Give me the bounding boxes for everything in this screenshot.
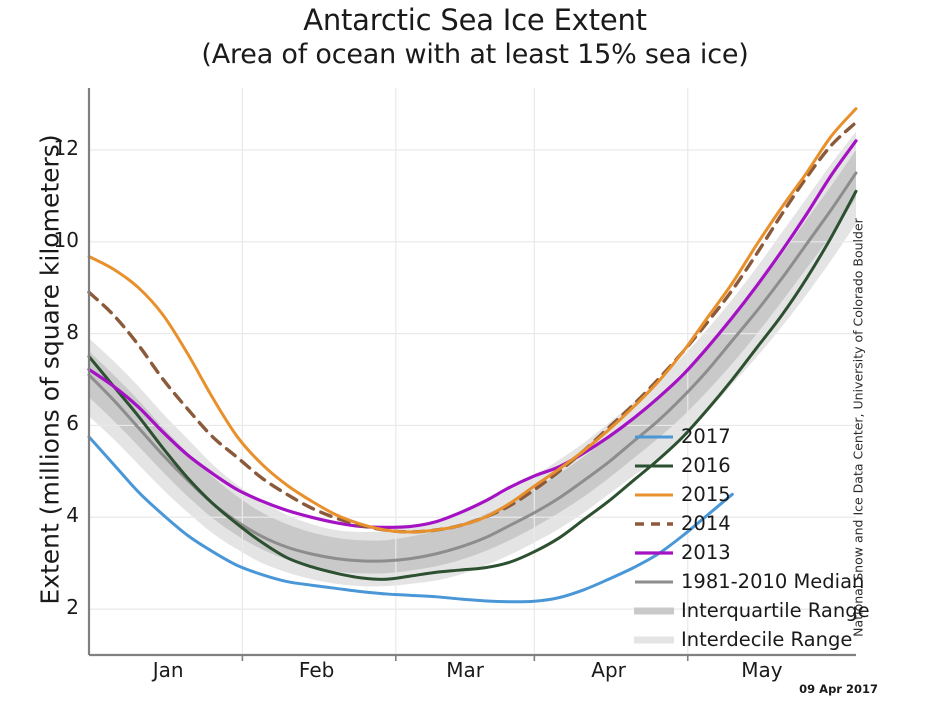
chart-legend: 201720162015201420131981-2010 MedianInte…	[634, 422, 859, 654]
y-axis-label: Extent (millions of square kilometers)	[36, 90, 65, 650]
date-stamp: 09 Apr 2017	[799, 682, 878, 696]
legend-swatch-icon	[634, 629, 674, 651]
x-tick-label: Mar	[405, 658, 525, 682]
legend-item-label: Interquartile Range	[681, 599, 870, 622]
legend-item-label: Interdecile Range	[681, 628, 852, 651]
legend-item-label: 2016	[681, 454, 731, 477]
legend-item-2016[interactable]: 2016	[634, 451, 859, 480]
legend-item-label: 2013	[681, 541, 731, 564]
legend-swatch-icon	[634, 542, 674, 564]
y-tick-label: 10	[33, 228, 79, 252]
legend-item-1981-2010-median[interactable]: 1981-2010 Median	[634, 567, 859, 596]
legend-swatch-icon	[634, 600, 674, 622]
y-tick-label: 4	[33, 503, 79, 527]
legend-swatch-icon	[634, 484, 674, 506]
legend-swatch-icon	[634, 513, 674, 535]
y-tick-label: 6	[33, 411, 79, 435]
legend-item-label: 1981-2010 Median	[681, 570, 864, 593]
legend-swatch-icon	[634, 571, 674, 593]
y-tick-label: 2	[33, 595, 79, 619]
legend-item-label: 2017	[681, 425, 731, 448]
legend-item-2014[interactable]: 2014	[634, 509, 859, 538]
x-tick-label: Jan	[108, 658, 228, 682]
legend-item-2013[interactable]: 2013	[634, 538, 859, 567]
x-tick-label: Feb	[257, 658, 377, 682]
y-tick-label: 8	[33, 320, 79, 344]
legend-swatch-icon	[634, 455, 674, 477]
legend-item-interdecile-range[interactable]: Interdecile Range	[634, 625, 859, 654]
chart-root: Antarctic Sea Ice Extent (Area of ocean …	[0, 0, 950, 702]
legend-item-2017[interactable]: 2017	[634, 422, 859, 451]
x-tick-label: May	[702, 658, 822, 682]
x-tick-label: Apr	[549, 658, 669, 682]
legend-item-2015[interactable]: 2015	[634, 480, 859, 509]
legend-swatch-icon	[634, 426, 674, 448]
legend-item-interquartile-range[interactable]: Interquartile Range	[634, 596, 859, 625]
legend-item-label: 2015	[681, 483, 731, 506]
y-tick-label: 12	[33, 136, 79, 160]
legend-item-label: 2014	[681, 512, 731, 535]
